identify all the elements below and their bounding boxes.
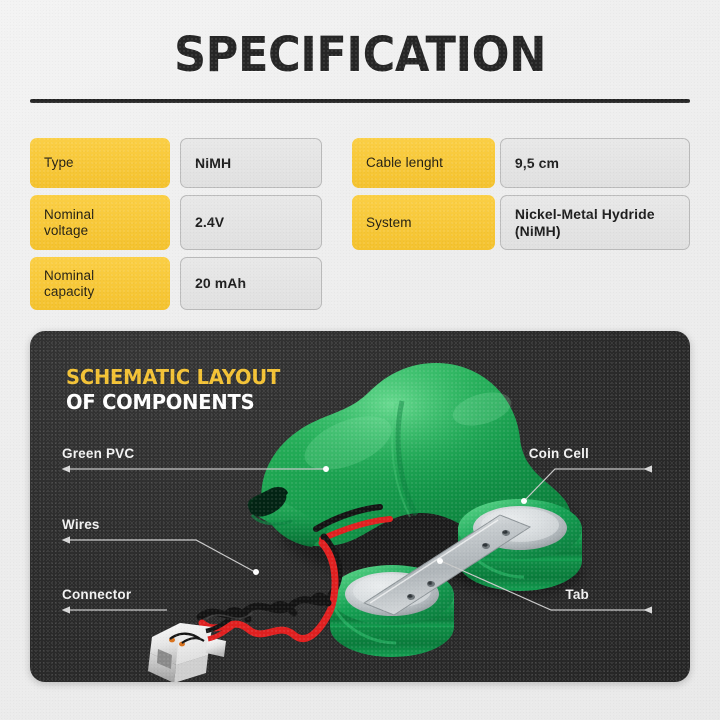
- spec-key: Type: [30, 138, 170, 188]
- page-title: SPECIFICATION: [25, 28, 695, 82]
- schematic-heading-line1: SCHEMATIC LAYOUT: [66, 365, 280, 390]
- title-divider: [30, 99, 690, 103]
- callout-label-green-pvc: Green PVC: [62, 446, 134, 462]
- spec-key: System: [352, 195, 495, 250]
- spec-key: Nominalvoltage: [30, 195, 170, 250]
- spec-value: Nickel-Metal Hydride(NiMH): [500, 195, 690, 250]
- spec-value: 2.4V: [180, 195, 322, 250]
- spec-row: System Nickel-Metal Hydride(NiMH): [352, 195, 690, 250]
- spec-value: NiMH: [180, 138, 322, 188]
- callout-label-tab: Tab: [565, 587, 589, 603]
- spec-value: 9,5 cm: [500, 138, 690, 188]
- schematic-panel: SCHEMATIC LAYOUT OF COMPONENTS: [30, 331, 690, 682]
- spec-key: Nominalcapacity: [30, 257, 170, 310]
- schematic-heading-line2: OF COMPONENTS: [66, 390, 280, 415]
- spec-row: Nominalvoltage 2.4V: [30, 195, 322, 250]
- callout-label-coin-cell: Coin Cell: [529, 446, 589, 462]
- spec-row: Nominalcapacity 20 mAh: [30, 257, 322, 310]
- callout-label-connector: Connector: [62, 587, 131, 603]
- schematic-heading: SCHEMATIC LAYOUT OF COMPONENTS: [66, 365, 280, 415]
- spec-key: Cable lenght: [352, 138, 495, 188]
- spec-row: Type NiMH: [30, 138, 322, 188]
- spec-value: 20 mAh: [180, 257, 322, 310]
- spec-row: Cable lenght 9,5 cm: [352, 138, 690, 188]
- callout-label-wires: Wires: [62, 517, 100, 533]
- specification-table: Type NiMH Nominalvoltage 2.4V Nominalcap…: [30, 138, 690, 310]
